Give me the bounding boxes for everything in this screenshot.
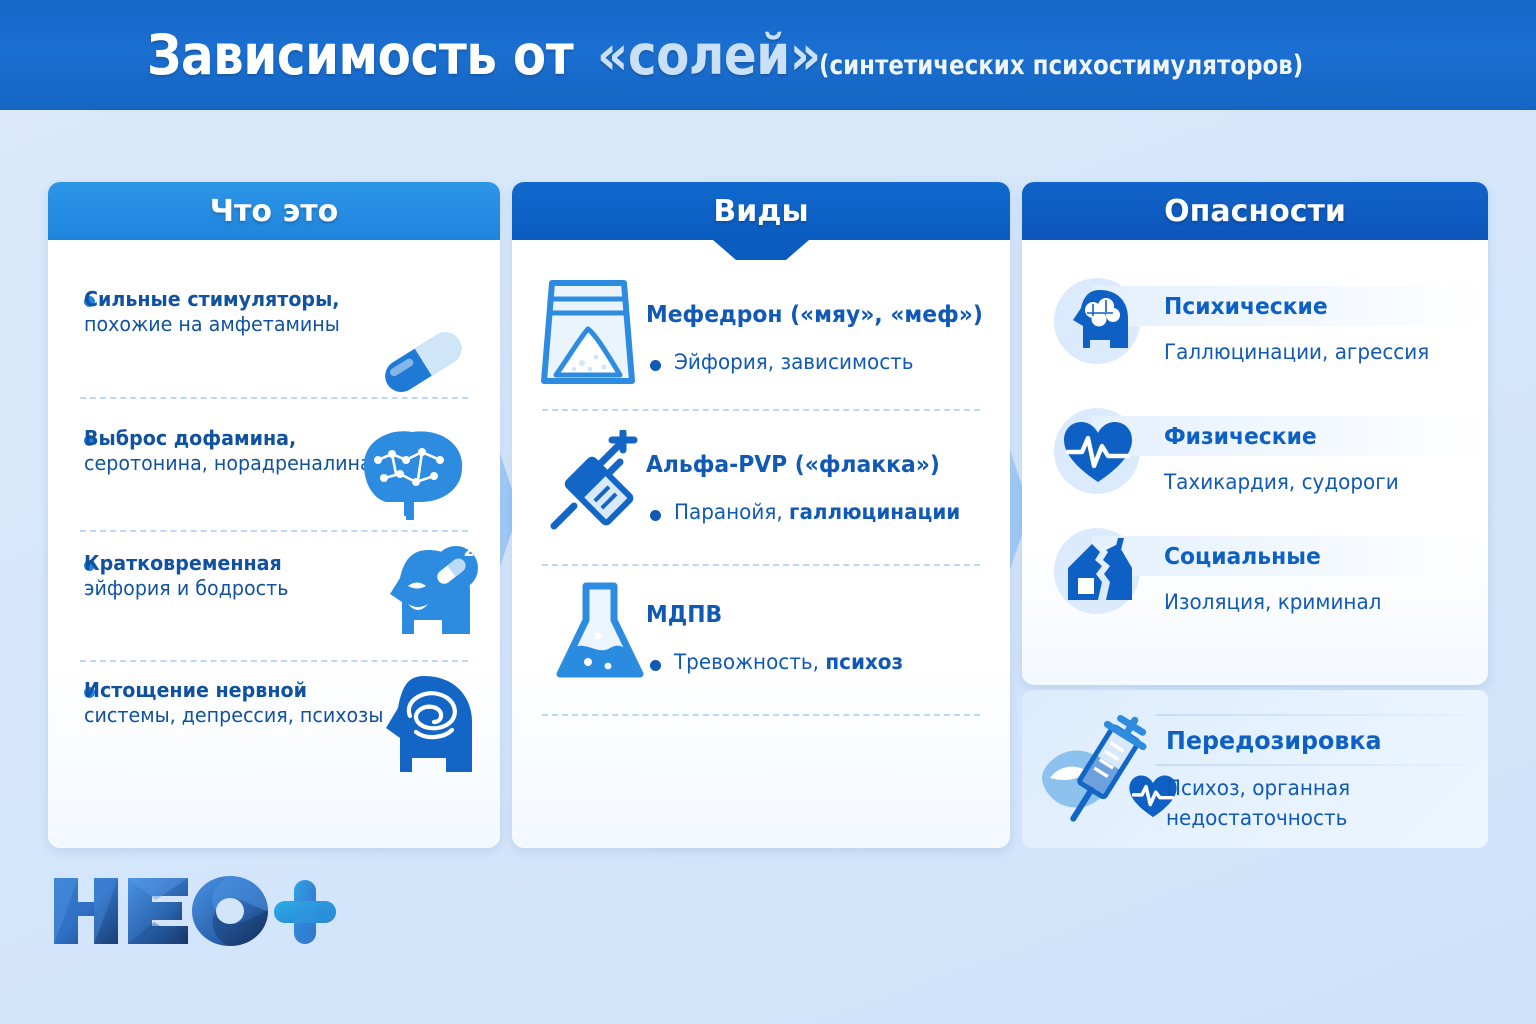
title-bar: Зависимость от «солей» (синтетических пс… (0, 0, 1536, 110)
bullet-icon (650, 360, 661, 371)
what-item-0-line2: похожие на амфетамины (84, 312, 363, 337)
divider (542, 564, 980, 566)
header-notch (713, 240, 809, 260)
panel-dangers-header: Опасности (1022, 182, 1488, 240)
what-item-3-line2: системы, депрессия, психозы (84, 703, 382, 728)
flask-icon (552, 580, 648, 690)
overdose-desc-line2: недостаточность (1166, 806, 1347, 830)
overdose-block: Передозировка Психоз, органная недостато… (1022, 690, 1488, 848)
divider (80, 397, 468, 399)
syringe-icon (540, 430, 646, 540)
head-brain-icon (1066, 286, 1132, 356)
broken-house-icon (1062, 534, 1136, 608)
panel-what-header: Что это (48, 182, 500, 240)
page-subtitle: (синтетических психостимуляторов) (819, 50, 1303, 81)
page-title-quoted: «солей» (597, 23, 821, 87)
what-item-2-line2: эйфория и бодрость (84, 576, 363, 601)
risk-0-desc: Галлюцинации, агрессия (1164, 340, 1429, 364)
type-1-effect: Паранойя, галлюцинации (674, 500, 960, 524)
panel-dangers: Опасности Психические Галлюцинации, агре… (1022, 182, 1488, 685)
risk-1-desc: Тахикардия, судороги (1164, 470, 1399, 494)
powder-bag-icon (538, 277, 638, 389)
panel-types-header: Виды (512, 182, 1010, 240)
risk-0-title: Психические (1164, 294, 1328, 320)
what-item-1-line2: серотонина, норадреналина (84, 451, 363, 476)
type-2-effect: Тревожность, психоз (674, 650, 903, 674)
type-0-effect: Эйфория, зависимость (674, 350, 914, 374)
panel-types: Виды Мефедрон («мяу», «меф») Эйфория, за… (512, 182, 1010, 848)
page-title-main: Зависимость от (147, 23, 573, 87)
divider (1156, 714, 1468, 716)
what-item-0-line1: Сильные стимуляторы, (84, 287, 363, 312)
head-tangled-brain-icon (366, 660, 486, 790)
overdose-title: Передозировка (1166, 726, 1382, 755)
neo-plus-logo (48, 868, 338, 954)
what-item-3-line1: Истощение нервной (84, 678, 382, 703)
what-item-2-line1: Кратковременная (84, 551, 363, 576)
overdose-desc-line1: Психоз, органная (1166, 776, 1350, 800)
type-2-name: МДПВ (646, 602, 722, 628)
divider (542, 409, 980, 411)
panel-what-is-it: Что это Сильные стимуляторы, похожие на … (48, 182, 500, 848)
divider (1156, 764, 1468, 766)
divider (542, 714, 980, 716)
risk-2-desc: Изоляция, криминал (1164, 590, 1381, 614)
risk-2-title: Социальные (1164, 544, 1321, 570)
what-item-1-line1: Выброс дофамина, (84, 426, 363, 451)
type-0-name: Мефедрон («мяу», «меф») (646, 302, 983, 328)
brain-network-icon (344, 420, 474, 530)
capsule-pill-icon (368, 320, 478, 400)
risk-1-title: Физические (1164, 424, 1317, 450)
heart-pulse-icon (1062, 420, 1134, 486)
bullet-icon (650, 660, 661, 671)
type-1-name: Альфа-PVP («флакка») (646, 452, 940, 478)
bullet-icon (650, 510, 661, 521)
svg-text:z: z (464, 541, 474, 561)
head-sleepy-pill-icon: z (364, 530, 484, 650)
